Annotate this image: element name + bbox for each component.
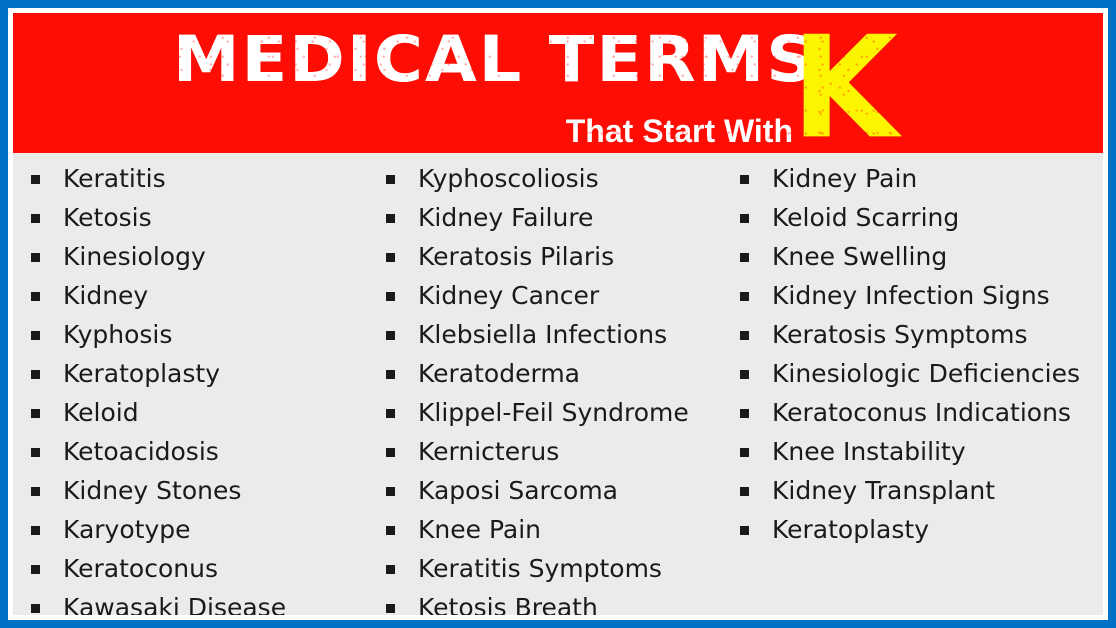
- terms-column-2: KyphoscoliosisKidney FailureKeratosis Pi…: [368, 153, 723, 615]
- list-item: Kaposi Sarcoma: [386, 471, 723, 510]
- list-item: Kidney Infection Signs: [740, 276, 1099, 315]
- terms-list-area: KeratitisKetosisKinesiologyKidneyKyphosi…: [13, 153, 1103, 615]
- list-item-label: Ketosis Breath: [418, 588, 723, 615]
- list-item-label: Kinesiologic Deficiencies: [772, 354, 1099, 393]
- list-item-label: Keratosis Symptoms: [772, 315, 1099, 354]
- list-item-label: Kidney Pain: [772, 159, 1099, 198]
- list-item: Keratitis: [31, 159, 368, 198]
- list-item-label: Ketoacidosis: [63, 432, 368, 471]
- poster-inner-frame: MEDICAL TERMS That Start With K Keratiti…: [8, 8, 1108, 620]
- list-item-label: Keratitis: [63, 159, 368, 198]
- terms-column-1: KeratitisKetosisKinesiologyKidneyKyphosi…: [13, 153, 368, 615]
- page-subtitle: That Start With: [273, 113, 793, 149]
- list-item: Keratoplasty: [31, 354, 368, 393]
- highlight-letter: K: [791, 17, 898, 153]
- list-item-label: Kinesiology: [63, 237, 368, 276]
- list-item: Keloid Scarring: [740, 198, 1099, 237]
- poster-header: MEDICAL TERMS That Start With K: [13, 13, 1103, 153]
- list-item: Kinesiologic Deficiencies: [740, 354, 1099, 393]
- list-item-label: Kaposi Sarcoma: [418, 471, 723, 510]
- list-item: Keratosis Pilaris: [386, 237, 723, 276]
- list-item: Knee Instability: [740, 432, 1099, 471]
- list-item-label: Kidney Infection Signs: [772, 276, 1099, 315]
- list-item-label: Keratoconus Indications: [772, 393, 1099, 432]
- list-item: Kidney Transplant: [740, 471, 1099, 510]
- list-item-label: Kidney Failure: [418, 198, 723, 237]
- list-item: Ketoacidosis: [31, 432, 368, 471]
- list-item-label: Keratitis Symptoms: [418, 549, 723, 588]
- list-item: Keloid: [31, 393, 368, 432]
- list-item: Keratitis Symptoms: [386, 549, 723, 588]
- list-item-label: Keratoderma: [418, 354, 723, 393]
- list-item: Keratoconus Indications: [740, 393, 1099, 432]
- list-item: Keratoderma: [386, 354, 723, 393]
- list-item: Kidney Pain: [740, 159, 1099, 198]
- list-item-label: Knee Swelling: [772, 237, 1099, 276]
- list-item: Klippel-Feil Syndrome: [386, 393, 723, 432]
- list-item-label: Klippel-Feil Syndrome: [418, 393, 723, 432]
- list-item-label: Kawasaki Disease: [63, 588, 368, 615]
- list-item-label: Kidney Transplant: [772, 471, 1099, 510]
- list-item: Knee Swelling: [740, 237, 1099, 276]
- list-item-label: Keloid Scarring: [772, 198, 1099, 237]
- list-item: Keratosis Symptoms: [740, 315, 1099, 354]
- terms-column-3: Kidney PainKeloid ScarringKnee SwellingK…: [723, 153, 1099, 615]
- list-item-label: Kernicterus: [418, 432, 723, 471]
- list-item-label: Keratosis Pilaris: [418, 237, 723, 276]
- list-item-label: Kidney Stones: [63, 471, 368, 510]
- list-item: Keratoplasty: [740, 510, 1099, 549]
- list-item: Kidney Failure: [386, 198, 723, 237]
- list-item-label: Knee Instability: [772, 432, 1099, 471]
- list-item-label: Keloid: [63, 393, 368, 432]
- list-item-label: Kyphosis: [63, 315, 368, 354]
- list-item: Kawasaki Disease: [31, 588, 368, 615]
- list-item: Ketosis: [31, 198, 368, 237]
- list-item: Kyphosis: [31, 315, 368, 354]
- list-item-label: Ketosis: [63, 198, 368, 237]
- list-item: Karyotype: [31, 510, 368, 549]
- list-item-label: Kidney: [63, 276, 368, 315]
- list-item-label: Kidney Cancer: [418, 276, 723, 315]
- list-item-label: Karyotype: [63, 510, 368, 549]
- list-item: Kernicterus: [386, 432, 723, 471]
- list-item-label: Klebsiella Infections: [418, 315, 723, 354]
- poster: MEDICAL TERMS That Start With K Keratiti…: [0, 0, 1116, 628]
- list-item-label: Keratoplasty: [772, 510, 1099, 549]
- list-item-label: Kyphoscoliosis: [418, 159, 723, 198]
- page-title: MEDICAL TERMS: [173, 23, 809, 97]
- list-item: Kidney Stones: [31, 471, 368, 510]
- list-item-label: Keratoplasty: [63, 354, 368, 393]
- list-item: Kidney: [31, 276, 368, 315]
- list-item: Klebsiella Infections: [386, 315, 723, 354]
- list-item: Keratoconus: [31, 549, 368, 588]
- list-item: Kyphoscoliosis: [386, 159, 723, 198]
- list-item: Kidney Cancer: [386, 276, 723, 315]
- title-block: MEDICAL TERMS That Start With K: [13, 13, 1103, 153]
- list-item-label: Keratoconus: [63, 549, 368, 588]
- list-item: Ketosis Breath: [386, 588, 723, 615]
- list-item: Knee Pain: [386, 510, 723, 549]
- list-item: Kinesiology: [31, 237, 368, 276]
- list-item-label: Knee Pain: [418, 510, 723, 549]
